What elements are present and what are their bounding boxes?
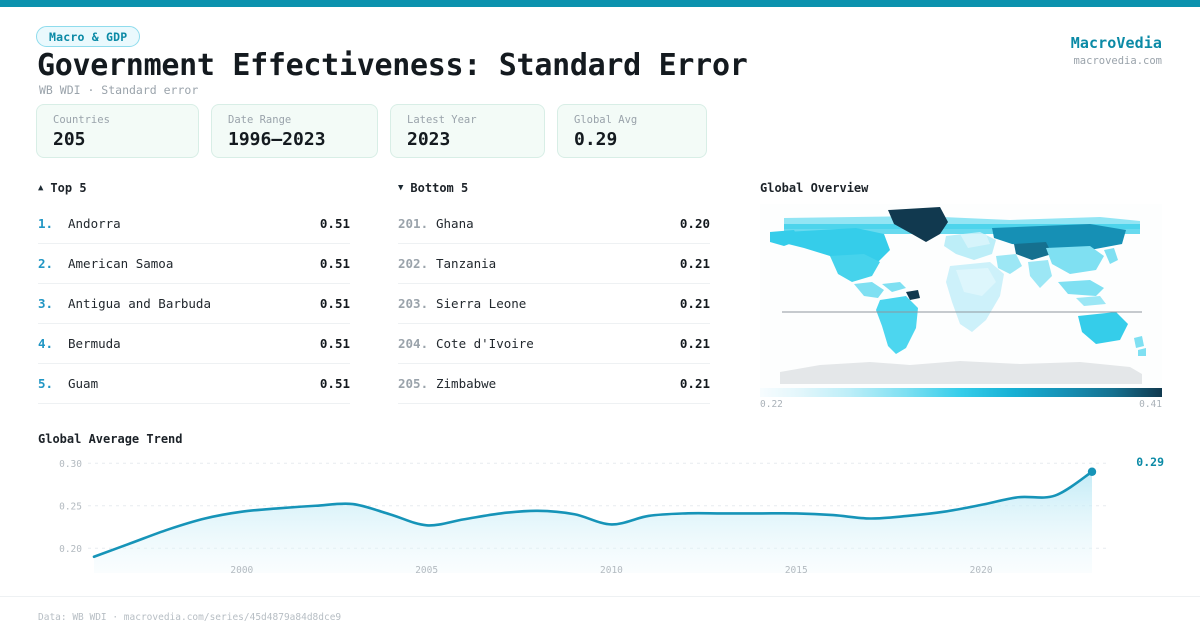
brand-name: MacroVedia [1071, 34, 1162, 52]
country-value: 0.51 [320, 296, 350, 311]
country-name: American Samoa [68, 256, 320, 271]
country-name: Sierra Leone [436, 296, 680, 311]
stat-value: 0.29 [574, 128, 690, 151]
top-5-panel: ▲ Top 5 1. Andorra 0.51 2. American Samo… [38, 181, 350, 404]
stat-label: Global Avg [574, 114, 690, 127]
world-map-svg [760, 204, 1162, 389]
stat-cards: Countries 205 Date Range 1996–2023 Lates… [36, 104, 707, 158]
y-tick-label: 0.20 [59, 544, 82, 555]
bottom-5-panel: ▼ Bottom 5 201. Ghana 0.20 202. Tanzania… [398, 181, 710, 404]
rank-number: 201. [398, 216, 436, 231]
x-tick-label: 2000 [230, 565, 253, 576]
triangle-down-icon: ▼ [398, 184, 403, 193]
rank-number: 4. [38, 336, 68, 351]
rank-number: 3. [38, 296, 68, 311]
country-value: 0.21 [680, 376, 710, 391]
triangle-up-icon: ▲ [38, 184, 43, 193]
stat-value: 205 [53, 128, 182, 151]
chart-y-tick-labels: 0.300.250.20 [59, 459, 82, 555]
country-name: Bermuda [68, 336, 320, 351]
world-choropleth-map[interactable] [760, 204, 1162, 389]
table-row[interactable]: 205. Zimbabwe 0.21 [398, 364, 710, 404]
brand-url: macrovedia.com [1071, 55, 1162, 67]
table-row[interactable]: 5. Guam 0.51 [38, 364, 350, 404]
stat-card-date-range: Date Range 1996–2023 [211, 104, 378, 158]
table-row[interactable]: 2. American Samoa 0.51 [38, 244, 350, 284]
category-badge[interactable]: Macro & GDP [36, 26, 140, 47]
footer-source: Data: WB WDI · macrovedia.com/series/45d… [38, 612, 341, 623]
brand: MacroVedia macrovedia.com [1071, 34, 1162, 67]
rank-number: 202. [398, 256, 436, 271]
country-value: 0.20 [680, 216, 710, 231]
top-accent-bar [0, 0, 1200, 7]
country-value: 0.51 [320, 256, 350, 271]
stat-label: Latest Year [407, 114, 528, 127]
stat-value: 1996–2023 [228, 128, 361, 151]
infographic-page: Macro & GDP Government Effectiveness: St… [0, 0, 1200, 630]
stat-card-global-avg: Global Avg 0.29 [557, 104, 707, 158]
rank-number: 203. [398, 296, 436, 311]
y-tick-label: 0.30 [59, 459, 82, 470]
rank-number: 2. [38, 256, 68, 271]
table-row[interactable]: 201. Ghana 0.20 [398, 204, 710, 244]
table-row[interactable]: 3. Antigua and Barbuda 0.51 [38, 284, 350, 324]
country-name: Ghana [436, 216, 680, 231]
footer-divider [0, 596, 1200, 597]
x-tick-label: 2020 [970, 565, 993, 576]
trend-endpoint-dot [1088, 468, 1096, 476]
trend-chart-svg: 0.300.250.20 [36, 448, 1164, 583]
table-row[interactable]: 4. Bermuda 0.51 [38, 324, 350, 364]
page-title: Government Effectiveness: Standard Error [37, 48, 747, 83]
x-tick-label: 2015 [785, 565, 808, 576]
stat-card-countries: Countries 205 [36, 104, 199, 158]
top-5-title: Top 5 [50, 181, 86, 195]
country-value: 0.51 [320, 376, 350, 391]
legend-max-label: 0.41 [1139, 399, 1162, 410]
table-row[interactable]: 204. Cote d'Ivoire 0.21 [398, 324, 710, 364]
page-subtitle: WB WDI · Standard error [39, 83, 198, 97]
global-overview-panel: Global Overview [760, 181, 1162, 389]
country-value: 0.51 [320, 216, 350, 231]
map-land-shapes [770, 207, 1146, 384]
chart-x-axis: 20002005201020152020 [36, 565, 1164, 579]
trend-chart[interactable]: 0.300.250.20 [36, 448, 1164, 583]
legend-min-label: 0.22 [760, 399, 783, 410]
stat-label: Countries [53, 114, 182, 127]
map-color-legend [760, 388, 1162, 397]
rank-number: 1. [38, 216, 68, 231]
stat-card-latest-year: Latest Year 2023 [390, 104, 545, 158]
rank-number: 205. [398, 376, 436, 391]
country-name: Zimbabwe [436, 376, 680, 391]
country-name: Guam [68, 376, 320, 391]
country-name: Andorra [68, 216, 320, 231]
map-title: Global Overview [760, 181, 1162, 195]
table-row[interactable]: 202. Tanzania 0.21 [398, 244, 710, 284]
country-value: 0.51 [320, 336, 350, 351]
trend-endpoint-label: 0.29 [1136, 455, 1164, 469]
table-row[interactable]: 203. Sierra Leone 0.21 [398, 284, 710, 324]
table-row[interactable]: 1. Andorra 0.51 [38, 204, 350, 244]
stat-label: Date Range [228, 114, 361, 127]
bottom-5-title: Bottom 5 [410, 181, 468, 195]
top-5-heading: ▲ Top 5 [38, 181, 350, 195]
x-tick-label: 2010 [600, 565, 623, 576]
stat-value: 2023 [407, 128, 528, 151]
map-legend-labels: 0.22 0.41 [760, 399, 1162, 410]
country-value: 0.21 [680, 336, 710, 351]
country-name: Tanzania [436, 256, 680, 271]
country-value: 0.21 [680, 256, 710, 271]
country-name: Cote d'Ivoire [436, 336, 680, 351]
country-value: 0.21 [680, 296, 710, 311]
rank-number: 5. [38, 376, 68, 391]
bottom-5-heading: ▼ Bottom 5 [398, 181, 710, 195]
trend-area [94, 472, 1092, 573]
y-tick-label: 0.25 [59, 501, 82, 512]
country-name: Antigua and Barbuda [68, 296, 320, 311]
trend-chart-title: Global Average Trend [38, 432, 183, 446]
x-tick-label: 2005 [415, 565, 438, 576]
rank-number: 204. [398, 336, 436, 351]
